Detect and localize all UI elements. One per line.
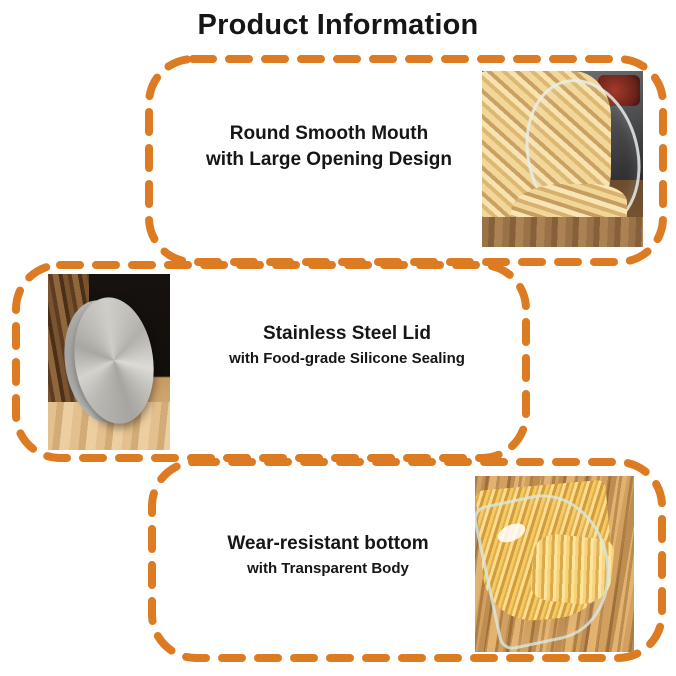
card-1-headline: Round Smooth Mouth [169, 121, 489, 147]
card-1-text-block: Round Smooth Mouth with Large Opening De… [169, 121, 489, 173]
product-information-infographic: Product Information Round Smooth Mouth w… [0, 0, 676, 676]
feature-card-round-smooth-mouth[interactable]: Round Smooth Mouth with Large Opening De… [145, 55, 667, 266]
card-3-subline: with Transparent Body [168, 557, 488, 581]
pasta-spiral-jar-photo [482, 71, 643, 247]
card-2-text-block: Stainless Steel Lid with Food-grade Sili… [192, 321, 502, 371]
card-2-headline: Stainless Steel Lid [192, 321, 502, 347]
card-2-subline: with Food-grade Silicone Sealing [192, 347, 502, 371]
feature-card-wear-resistant-bottom[interactable]: Wear-resistant bottom with Transparent B… [148, 458, 666, 662]
card-3-headline: Wear-resistant bottom [168, 531, 488, 557]
page-title: Product Information [0, 8, 676, 42]
photo-wood-board [482, 217, 643, 247]
card-1-headline-second-line: with Large Opening Design [169, 147, 489, 173]
card-3-text-block: Wear-resistant bottom with Transparent B… [168, 531, 488, 581]
feature-card-stainless-steel-lid[interactable]: Stainless Steel Lid with Food-grade Sili… [12, 261, 530, 462]
stainless-steel-lid-photo [48, 274, 170, 450]
pasta-linguine-jar-photo [475, 476, 634, 652]
